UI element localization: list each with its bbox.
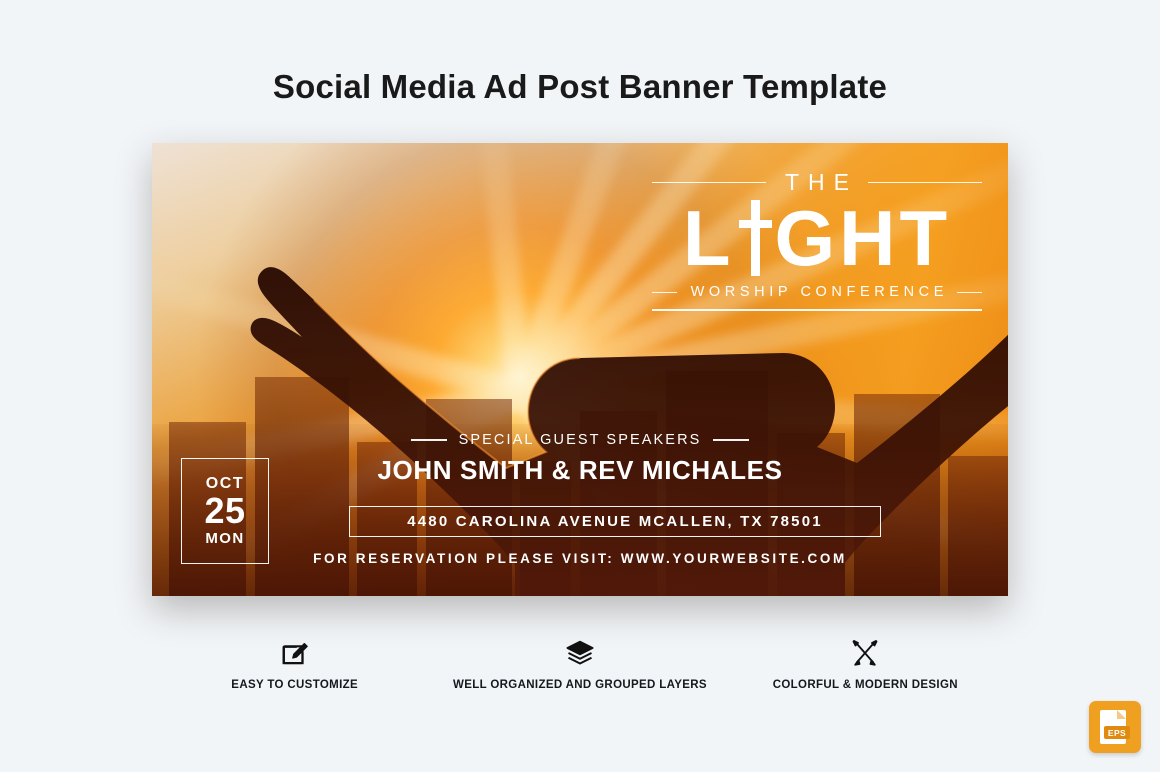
date-box: OCT 25 MON bbox=[181, 458, 269, 564]
logo-main-before: L bbox=[683, 201, 735, 275]
feature-item-customize: EASY TO CUSTOMIZE bbox=[152, 636, 437, 694]
eps-file-badge: EPS bbox=[1089, 701, 1141, 753]
speakers-rule-right bbox=[713, 439, 749, 441]
logo-main-word: L GHT bbox=[652, 200, 982, 276]
address-text: 4480 CAROLINA AVENUE MCALLEN, TX 78501 bbox=[407, 513, 823, 530]
logo-subtitle-row: WORSHIP CONFERENCE bbox=[652, 284, 982, 300]
speakers-label: SPECIAL GUEST SPEAKERS bbox=[459, 432, 702, 448]
logo-sub-rule-right bbox=[957, 292, 982, 293]
eps-label: EPS bbox=[1104, 726, 1130, 739]
feature-caption: EASY TO CUSTOMIZE bbox=[152, 678, 437, 694]
file-icon: EPS bbox=[1100, 710, 1130, 744]
speakers-names: JOHN SMITH & REV MICHALES bbox=[152, 455, 1008, 486]
cross-icon bbox=[737, 200, 773, 276]
feature-item-design: COLORFUL & MODERN DESIGN bbox=[723, 636, 1008, 694]
speakers-rule-left bbox=[411, 439, 447, 441]
date-weekday: MON bbox=[205, 530, 244, 547]
logo-the-word: THE bbox=[776, 169, 858, 196]
pencil-square-icon bbox=[152, 636, 437, 670]
layers-icon bbox=[437, 636, 722, 670]
brush-pencil-cross-icon bbox=[723, 636, 1008, 670]
logo-top-row: THE bbox=[652, 169, 982, 196]
logo-main-after: GHT bbox=[775, 201, 952, 275]
page-title: Social Media Ad Post Banner Template bbox=[0, 68, 1160, 106]
logo-rule-right bbox=[868, 182, 982, 183]
feature-item-layers: WELL ORGANIZED AND GROUPED LAYERS bbox=[437, 636, 722, 694]
logo-underline bbox=[652, 309, 982, 311]
address-box: 4480 CAROLINA AVENUE MCALLEN, TX 78501 bbox=[349, 506, 881, 537]
feature-caption: WELL ORGANIZED AND GROUPED LAYERS bbox=[437, 678, 722, 694]
logo-rule-left bbox=[652, 182, 766, 183]
speakers-label-row: SPECIAL GUEST SPEAKERS bbox=[152, 432, 1008, 448]
reservation-text: FOR RESERVATION PLEASE VISIT: WWW.YOURWE… bbox=[152, 551, 1008, 566]
logo-sub-rule-left bbox=[652, 292, 677, 293]
event-logo: THE L GHT WORSHIP CONFERENCE bbox=[652, 169, 982, 311]
feature-list: EASY TO CUSTOMIZE WELL ORGANIZED AND GRO… bbox=[152, 636, 1008, 694]
logo-subtitle: WORSHIP CONFERENCE bbox=[686, 284, 948, 300]
feature-caption: COLORFUL & MODERN DESIGN bbox=[723, 678, 1008, 694]
date-day: 25 bbox=[204, 492, 245, 530]
banner-preview: THE L GHT WORSHIP CONFERENCE SPECIAL GUE… bbox=[152, 143, 1008, 596]
